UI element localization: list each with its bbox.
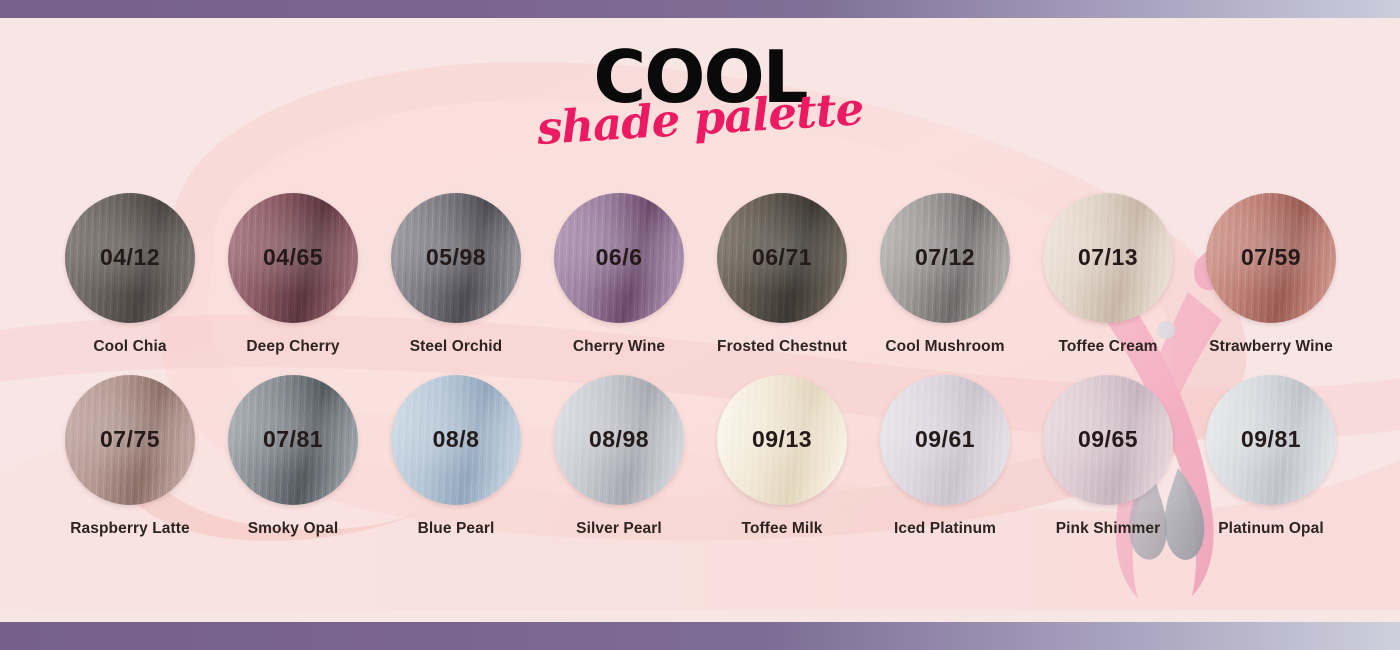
page-title: COOL shade palette [0, 44, 1400, 145]
shade-code: 05/98 [391, 244, 521, 271]
shade-swatch-disc: 07/12 [880, 193, 1010, 323]
shade-swatch-disc: 07/13 [1043, 193, 1173, 323]
shade-code: 09/81 [1206, 426, 1336, 453]
shade-code: 07/59 [1206, 244, 1336, 271]
shade-swatch[interactable]: 07/12Cool Mushroom [864, 193, 1026, 356]
shade-name: Iced Platinum [864, 520, 1026, 538]
shade-swatch-disc: 09/81 [1206, 375, 1336, 505]
shade-swatch-disc: 05/98 [391, 193, 521, 323]
shade-swatch[interactable]: 05/98Steel Orchid [375, 193, 537, 356]
shade-code: 06/6 [554, 244, 684, 271]
shade-swatch[interactable]: 04/12Cool Chia [49, 193, 211, 356]
shade-swatch-disc: 04/12 [65, 193, 195, 323]
shade-swatch[interactable]: 07/75Raspberry Latte [49, 375, 211, 538]
shade-swatch-disc: 09/13 [717, 375, 847, 505]
shade-swatch-disc: 06/71 [717, 193, 847, 323]
shade-code: 09/13 [717, 426, 847, 453]
shade-name: Steel Orchid [375, 338, 537, 356]
shade-name: Deep Cherry [212, 338, 374, 356]
bottom-accent-bar [0, 622, 1400, 650]
shade-swatch-disc: 04/65 [228, 193, 358, 323]
shade-swatch[interactable]: 08/98Silver Pearl [538, 375, 700, 538]
shade-name: Pink Shimmer [1027, 520, 1189, 538]
shade-code: 07/81 [228, 426, 358, 453]
shade-swatch[interactable]: 08/8Blue Pearl [375, 375, 537, 538]
shade-code: 09/65 [1043, 426, 1173, 453]
shade-swatch[interactable]: 04/65Deep Cherry [212, 193, 374, 356]
shade-name: Platinum Opal [1190, 520, 1352, 538]
shade-name: Cool Mushroom [864, 338, 1026, 356]
shade-code: 09/61 [880, 426, 1010, 453]
shade-name: Toffee Cream [1027, 338, 1189, 356]
shade-swatch[interactable]: 07/59Strawberry Wine [1190, 193, 1352, 356]
shade-swatch[interactable]: 09/61Iced Platinum [864, 375, 1026, 538]
shade-swatch-disc: 09/65 [1043, 375, 1173, 505]
shade-swatch[interactable]: 07/81Smoky Opal [212, 375, 374, 538]
shade-name: Smoky Opal [212, 520, 374, 538]
shade-swatch[interactable]: 09/65Pink Shimmer [1027, 375, 1189, 538]
shade-swatch[interactable]: 06/71Frosted Chestnut [701, 193, 863, 356]
shade-code: 07/12 [880, 244, 1010, 271]
shade-swatch-disc: 06/6 [554, 193, 684, 323]
shade-swatch[interactable]: 07/13Toffee Cream [1027, 193, 1189, 356]
shade-name: Blue Pearl [375, 520, 537, 538]
shade-swatch[interactable]: 09/81Platinum Opal [1190, 375, 1352, 538]
shade-code: 06/71 [717, 244, 847, 271]
shade-name: Silver Pearl [538, 520, 700, 538]
shade-swatch-disc: 08/98 [554, 375, 684, 505]
shade-swatch[interactable]: 06/6Cherry Wine [538, 193, 700, 356]
shade-swatch-disc: 09/61 [880, 375, 1010, 505]
shade-code: 08/8 [391, 426, 521, 453]
shade-name: Cherry Wine [538, 338, 700, 356]
shade-swatch-disc: 07/75 [65, 375, 195, 505]
shade-code: 04/65 [228, 244, 358, 271]
shade-code: 08/98 [554, 426, 684, 453]
shade-name: Toffee Milk [701, 520, 863, 538]
shade-name: Cool Chia [49, 338, 211, 356]
shade-code: 07/75 [65, 426, 195, 453]
shade-name: Raspberry Latte [49, 520, 211, 538]
shade-swatch-disc: 07/59 [1206, 193, 1336, 323]
shade-swatch-disc: 08/8 [391, 375, 521, 505]
shade-code: 04/12 [65, 244, 195, 271]
shade-swatch[interactable]: 09/13Toffee Milk [701, 375, 863, 538]
shade-swatch-disc: 07/81 [228, 375, 358, 505]
shade-name: Strawberry Wine [1190, 338, 1352, 356]
shade-name: Frosted Chestnut [701, 338, 863, 356]
shade-palette-poster: COOL shade palette 04/12Cool Chia04/65De… [0, 0, 1400, 650]
top-accent-bar [0, 0, 1400, 18]
shade-code: 07/13 [1043, 244, 1173, 271]
